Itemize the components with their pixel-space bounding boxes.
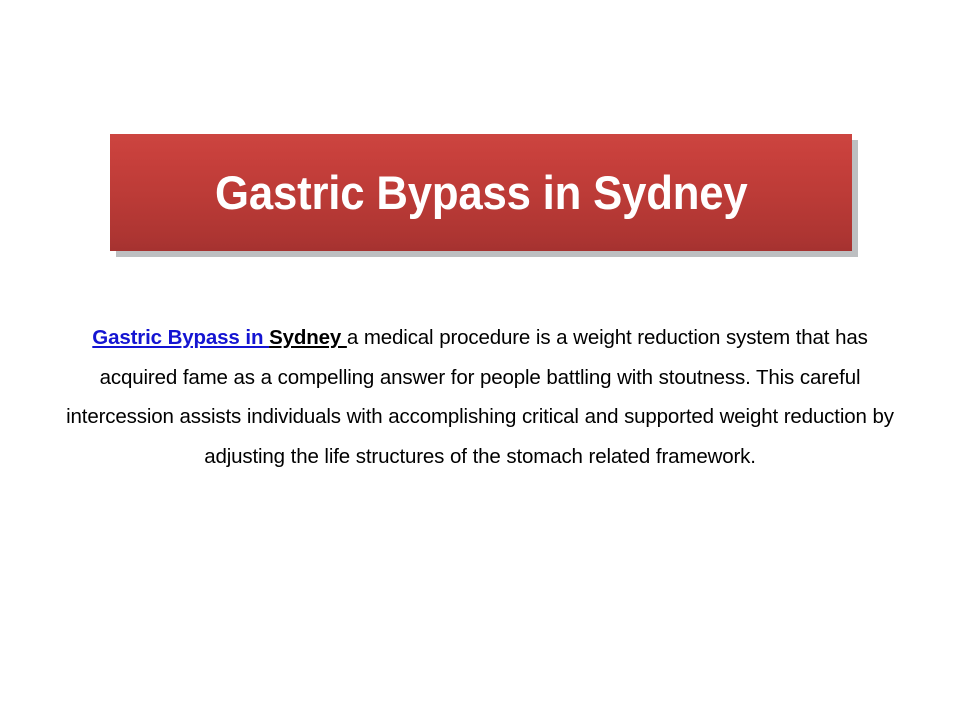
body-text-block: Gastric Bypass in Sydney a medical proce…	[56, 318, 904, 476]
sydney-link-label[interactable]: Sydney	[269, 326, 347, 349]
title-banner-container: Gastric Bypass in Sydney	[110, 134, 852, 251]
slide-canvas: Gastric Bypass in Sydney Gastric Bypass …	[0, 0, 960, 720]
body-paragraph: Gastric Bypass in Sydney a medical proce…	[56, 318, 904, 476]
title-banner: Gastric Bypass in Sydney	[110, 134, 852, 251]
page-title: Gastric Bypass in Sydney	[215, 169, 747, 216]
gastric-bypass-link[interactable]: Gastric Bypass in	[92, 326, 269, 349]
